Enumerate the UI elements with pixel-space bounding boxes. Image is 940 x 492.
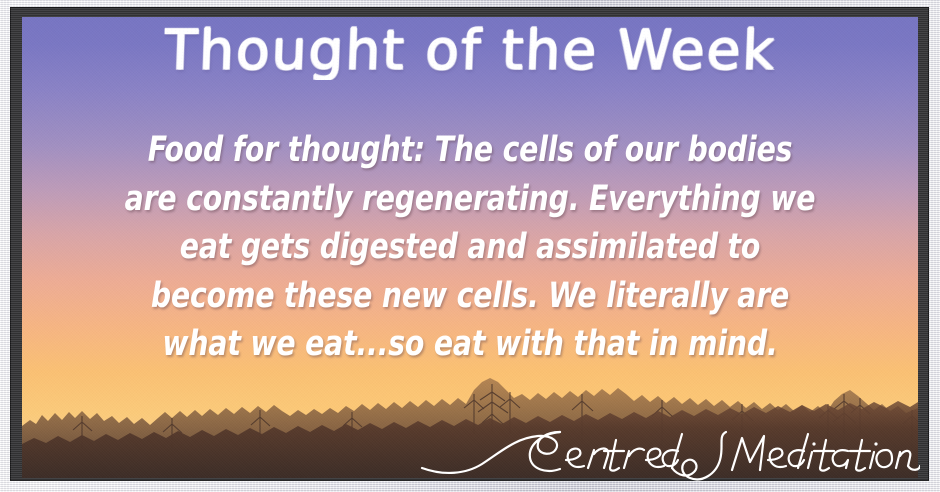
quote-line: are constantly regenerating. Everything …: [92, 175, 848, 224]
page-title-text: Thought of the Week: [163, 20, 778, 80]
quote-text: Food for thought: The cells of our bodie…: [92, 126, 848, 369]
quote-line: eat gets digested and assimilated to: [92, 223, 848, 272]
thought-of-the-week-card: Thought of the Week Food for thought: Th…: [0, 0, 940, 492]
quote-line: Food for thought: The cells of our bodie…: [92, 126, 848, 175]
quote-line: what we eat...so eat with that in mind.: [92, 320, 848, 369]
quote-line: become these new cells. We literally are: [92, 272, 848, 321]
treeline-silhouette: [22, 368, 918, 478]
page-title: Thought of the Week: [0, 20, 940, 80]
